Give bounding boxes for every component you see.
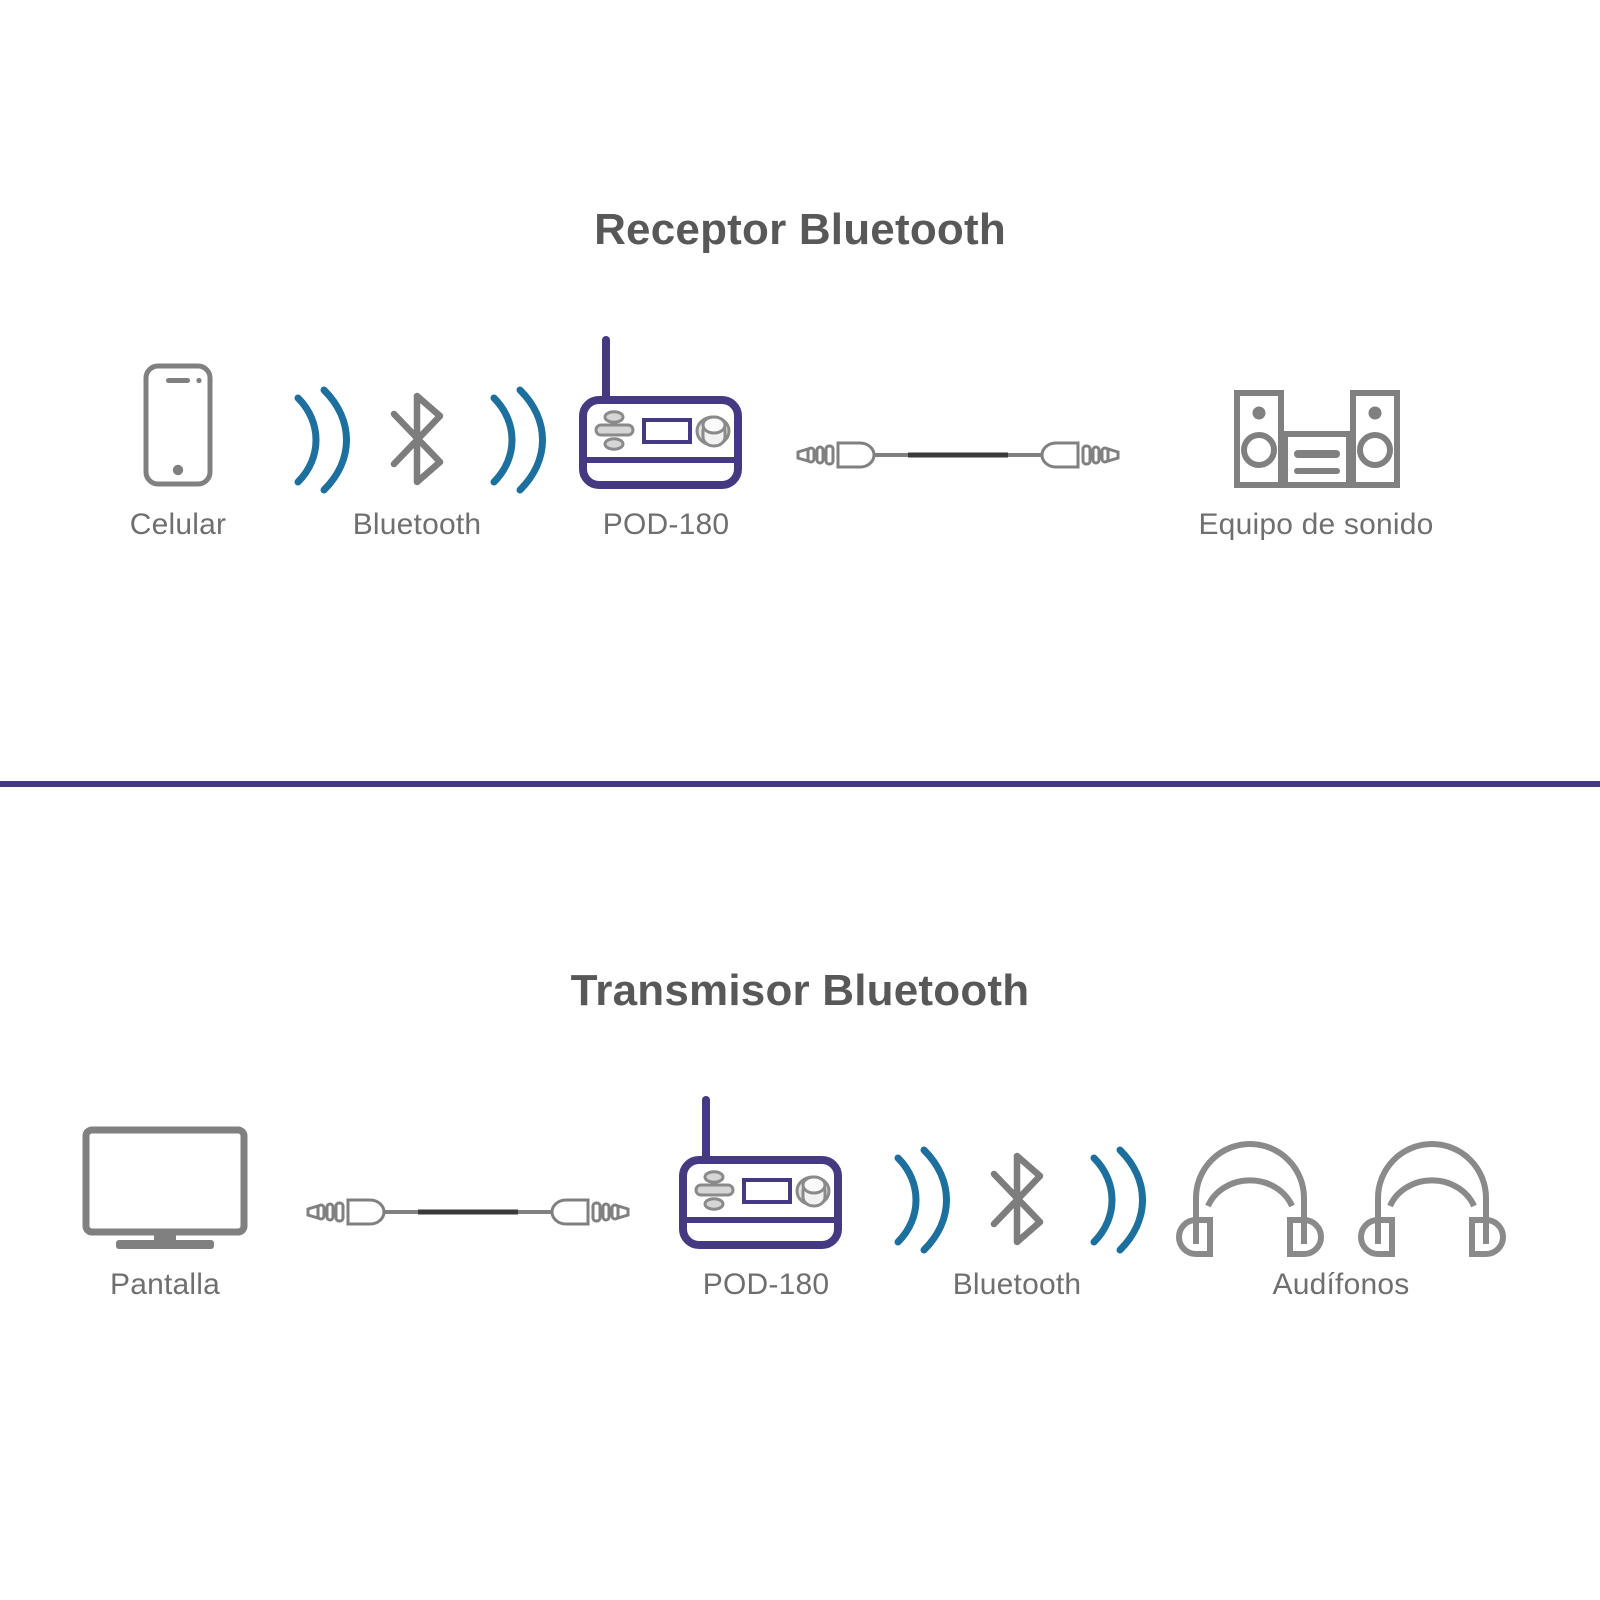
node-aux-cable-bottom bbox=[300, 1187, 636, 1237]
node-pod-180-top: POD-180 bbox=[578, 332, 753, 492]
signal-wave-right-icon bbox=[1078, 1142, 1148, 1258]
node-signal-wave-left-bottom bbox=[882, 1142, 952, 1258]
node-audifonos: Audífonos bbox=[1186, 1136, 1496, 1254]
headphones-pair-icon bbox=[1186, 1136, 1496, 1254]
node-bluetooth-top: Bluetooth bbox=[362, 378, 472, 502]
section-title-receptor: Receptor Bluetooth bbox=[0, 205, 1600, 255]
node-pantalla: Pantalla bbox=[80, 1126, 250, 1251]
node-bluetooth-bottom: Bluetooth bbox=[962, 1138, 1072, 1262]
signal-wave-left-icon bbox=[282, 382, 352, 498]
bluetooth-icon bbox=[362, 378, 472, 502]
signal-wave-left-icon bbox=[882, 1142, 952, 1258]
caption-pantalla: Pantalla bbox=[0, 1268, 375, 1302]
stereo-system-icon bbox=[1232, 388, 1402, 488]
node-aux-cable-top bbox=[790, 430, 1126, 480]
caption-audifonos: Audífonos bbox=[1131, 1268, 1551, 1302]
diagram-page: Receptor Bluetooth Celular Blu bbox=[0, 0, 1600, 1600]
pod-180-device-icon bbox=[578, 332, 753, 492]
node-equipo-de-sonido: Equipo de sonido bbox=[1232, 388, 1402, 488]
node-signal-wave-right-top bbox=[478, 382, 548, 498]
section-title-transmisor: Transmisor Bluetooth bbox=[0, 966, 1600, 1016]
monitor-icon bbox=[80, 1126, 250, 1251]
smartphone-icon bbox=[78, 360, 278, 500]
section-divider bbox=[0, 781, 1600, 787]
node-signal-wave-left-top bbox=[282, 382, 352, 498]
signal-wave-right-icon bbox=[478, 382, 548, 498]
pod-180-device-icon bbox=[678, 1092, 853, 1252]
node-pod-180-bottom: POD-180 bbox=[678, 1092, 853, 1252]
caption-pod-180-top: POD-180 bbox=[456, 508, 876, 542]
node-celular: Celular bbox=[78, 360, 278, 500]
bluetooth-icon bbox=[962, 1138, 1072, 1262]
aux-cable-icon bbox=[300, 1187, 636, 1237]
aux-cable-icon bbox=[790, 430, 1126, 480]
node-signal-wave-right-bottom bbox=[1078, 1142, 1148, 1258]
caption-equipo-de-sonido: Equipo de sonido bbox=[1106, 508, 1526, 542]
